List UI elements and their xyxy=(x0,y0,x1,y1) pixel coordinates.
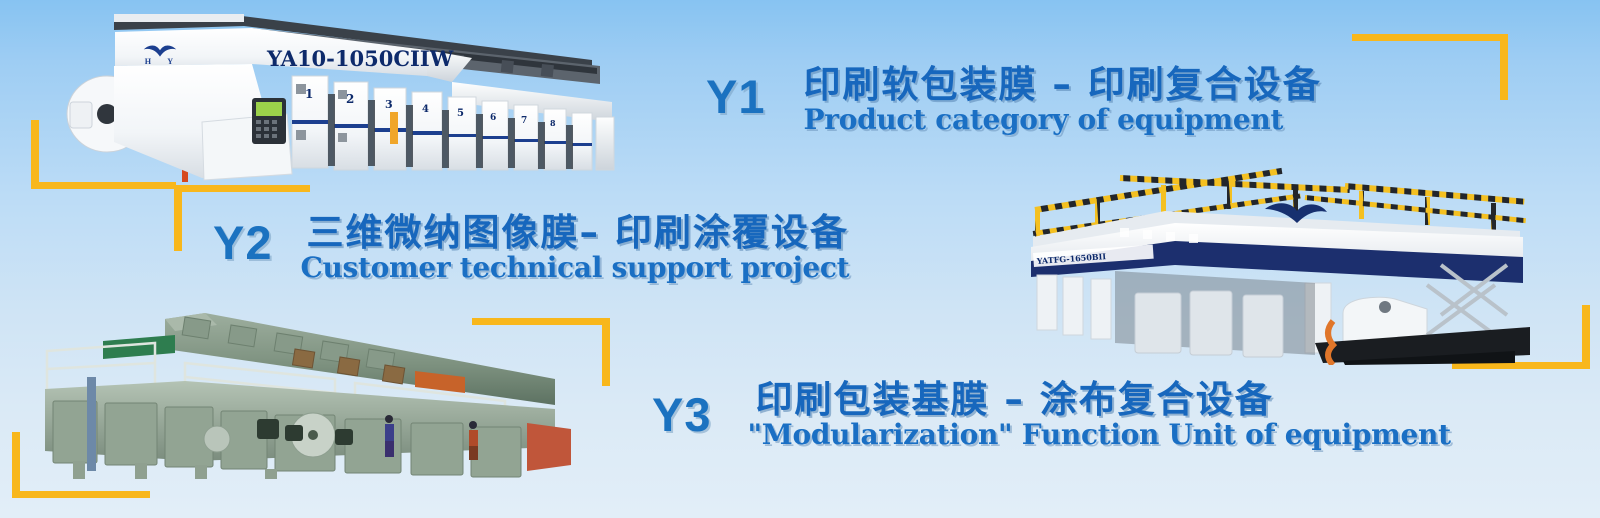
svg-text:8: 8 xyxy=(550,118,556,128)
svg-text:H: H xyxy=(145,57,152,66)
entry-y3: Y3 印刷包装基膜 – 涂布复合设备 "Modularization" Func… xyxy=(652,390,1451,450)
machine-photo-laminator: YATFG-1650BII xyxy=(975,165,1530,365)
bracket-y2-horizontal xyxy=(174,185,310,192)
press-model-label: YA10-1050CIIW xyxy=(266,46,454,71)
svg-text:4: 4 xyxy=(422,104,429,115)
bracket-bottom-left-horizontal xyxy=(12,491,150,498)
bracket-mid-vertical xyxy=(602,318,610,386)
entry-y3-title-en: "Modularization" Function Unit of equipm… xyxy=(748,420,1451,450)
bracket-y2-vertical xyxy=(174,185,182,251)
bracket-bottom-left-vertical xyxy=(12,432,20,498)
bracket-top-right-horizontal xyxy=(1352,34,1507,41)
bracket-right-vertical xyxy=(1582,305,1590,369)
svg-text:3: 3 xyxy=(385,98,393,111)
bracket-top-left-horizontal xyxy=(31,182,176,189)
promo-banner: YA10-1050CIIW H Y 1 xyxy=(0,0,1600,518)
machine-photo-production-line xyxy=(35,305,575,480)
entry-y3-title-cn: 印刷包装基膜 – 涂布复合设备 xyxy=(756,379,1451,420)
svg-text:1: 1 xyxy=(305,87,313,101)
entry-y1: Y1 印刷软包装膜 – 印刷复合设备 Product category of e… xyxy=(706,72,1322,135)
svg-text:5: 5 xyxy=(457,108,464,119)
bracket-top-left-vertical xyxy=(31,120,39,188)
entry-y2-title-cn: 三维微纳图像膜– 印刷涂覆设备 xyxy=(307,212,850,253)
svg-text:Y: Y xyxy=(167,57,173,66)
entry-y3-code: Y3 xyxy=(652,390,712,440)
svg-text:7: 7 xyxy=(521,116,527,126)
svg-text:2: 2 xyxy=(346,92,354,106)
machine-photo-printing-press: YA10-1050CIIW H Y 1 xyxy=(52,2,622,182)
entry-y2-code: Y2 xyxy=(213,218,273,268)
bracket-top-right-vertical xyxy=(1500,34,1508,100)
entry-y2: Y2 三维微纳图像膜– 印刷涂覆设备 Customer technical su… xyxy=(213,218,849,283)
entry-y1-title-en: Product category of equipment xyxy=(804,105,1322,135)
entry-y2-title-en: Customer technical support project xyxy=(301,253,850,283)
entry-y1-code: Y1 xyxy=(706,72,766,122)
svg-text:6: 6 xyxy=(490,113,496,123)
entry-y1-title-cn: 印刷软包装膜 – 印刷复合设备 xyxy=(804,64,1322,105)
